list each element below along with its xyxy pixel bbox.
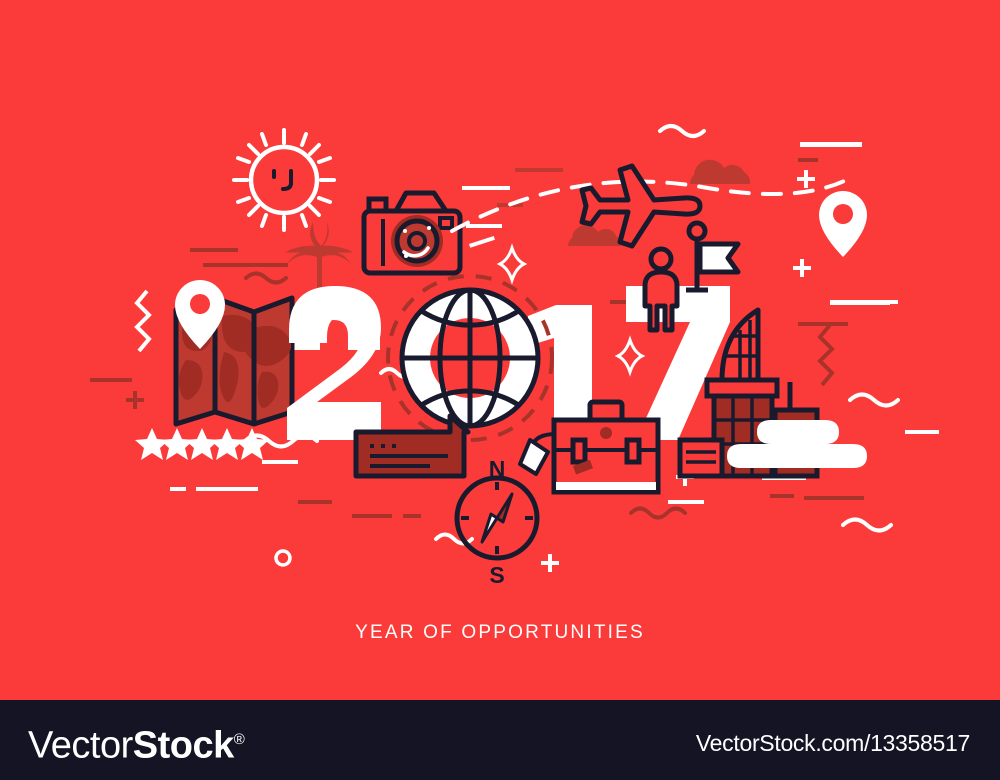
decor-dash: [770, 494, 794, 498]
briefcase-icon: [520, 402, 658, 492]
camera-icon: [364, 193, 460, 273]
logo-text-part1: Vector: [28, 725, 133, 767]
decor-wave: [631, 509, 685, 518]
decor-dash: [298, 500, 332, 504]
decor-dash: [203, 263, 288, 267]
illustration-canvas: N S: [0, 0, 1000, 700]
star-icon: [160, 428, 194, 460]
globe-icon: [402, 290, 538, 426]
decor-dash: [90, 378, 132, 382]
decor-dash: [462, 186, 510, 190]
decor-wave: [660, 126, 704, 136]
decor-dash: [352, 514, 392, 518]
star-icon: [185, 428, 219, 460]
decor-dash: [262, 460, 298, 464]
decor-dash: [469, 236, 495, 248]
decor-wave: [843, 520, 891, 531]
watermark-footer-bar: VectorStock® VectorStock.com/13358517: [0, 700, 1000, 780]
flag-icon: [686, 223, 738, 290]
decor-wave: [246, 274, 286, 283]
star-icon: [135, 428, 169, 460]
compass-south-label: S: [489, 562, 504, 588]
decor-dash: [798, 322, 848, 326]
star-icon: [210, 428, 244, 460]
screenshot-root: N S YEAR OF OPPORTUNITIES VectorStock® V…: [0, 0, 1000, 780]
decor-dash: [190, 248, 238, 252]
logo-text-part2: Stock: [133, 725, 234, 767]
sun-face: [274, 171, 291, 189]
decor-dash: [798, 158, 818, 162]
star-rating-icon: [135, 428, 269, 460]
vectorstock-logo[interactable]: VectorStock®: [28, 718, 244, 768]
page-title: YEAR OF OPPORTUNITIES: [0, 622, 1000, 644]
decor-zigzag: [137, 291, 149, 351]
digit-2: [287, 286, 381, 440]
map-pin-icon-right: [819, 191, 867, 257]
decor-dash: [668, 500, 704, 504]
decor-dash: [804, 496, 864, 500]
decor-dash: [403, 514, 421, 518]
decor-dash: [466, 224, 502, 228]
decor-wave: [850, 395, 898, 406]
decor-dash: [880, 300, 898, 304]
illustration-artboard: N S YEAR OF OPPORTUNITIES: [0, 0, 1000, 700]
stock-image-url[interactable]: VectorStock.com/13358517: [696, 730, 970, 757]
compass-north-label: N: [489, 456, 506, 482]
star-icon: [235, 428, 269, 460]
decor-dash: [905, 430, 939, 434]
decor-dash: [170, 487, 186, 491]
compass-icon: N S: [457, 456, 537, 588]
decor-circle: [276, 551, 290, 565]
decor-dash: [515, 168, 563, 172]
decor-dash: [800, 142, 862, 147]
decor-dash: [196, 487, 258, 491]
registered-mark-icon: ®: [234, 731, 245, 748]
sun-icon: [234, 130, 334, 230]
decor-zigzag: [820, 325, 832, 385]
